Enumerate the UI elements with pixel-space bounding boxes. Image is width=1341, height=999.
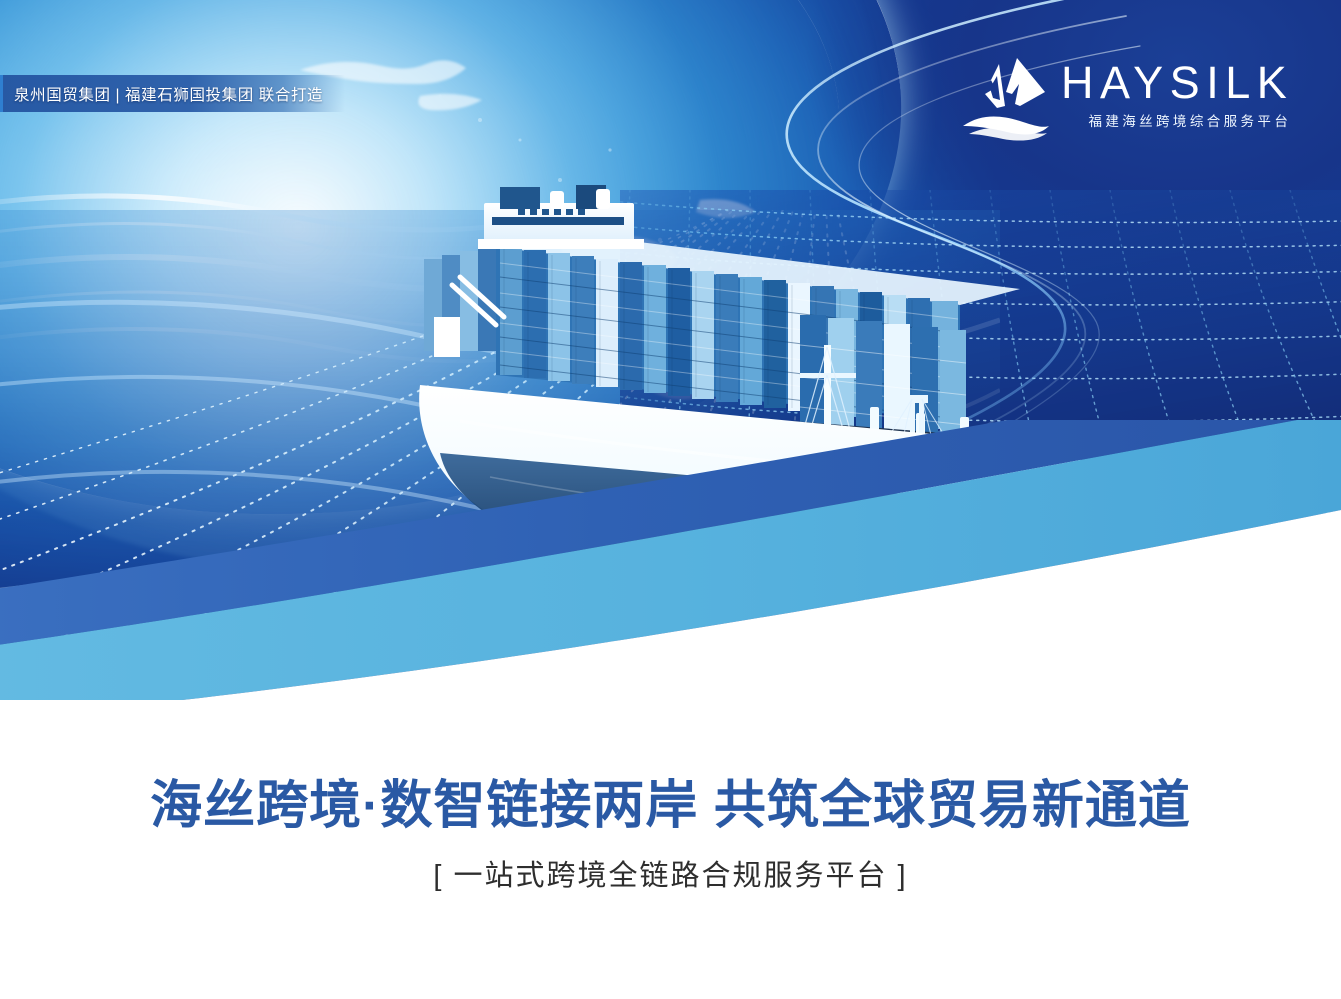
headline-main: 海丝跨境·数智链接两岸 共筑全球贸易新通道: [0, 775, 1341, 837]
headline-block: 海丝跨境·数智链接两岸 共筑全球贸易新通道 [ 一站式跨境全链路合规服务平台 ]: [0, 775, 1341, 895]
headline-sub: [ 一站式跨境全链路合规服务平台 ]: [0, 857, 1341, 895]
sailboat-wave-logo-icon: [957, 54, 1053, 142]
logo-text-block: HAYSILK 福建海丝跨境综合服务平台: [1061, 52, 1293, 130]
promo-poster: 泉州国贸集团 | 福建石狮国投集团 联合打造 HAYSILK 福建海丝跨境综合服…: [0, 0, 1341, 999]
partner-label: 泉州国贸集团 | 福建石狮国投集团 联合打造: [3, 83, 323, 105]
logo-subtitle: 福建海丝跨境综合服务平台: [1061, 110, 1293, 130]
decorative-curve-bands: [0, 420, 1341, 700]
partner-ribbon: 泉州国贸集团 | 福建石狮国投集团 联合打造: [0, 75, 345, 112]
logo-wordmark: HAYSILK: [1061, 58, 1293, 108]
haysilk-logo[interactable]: HAYSILK 福建海丝跨境综合服务平台: [957, 52, 1293, 142]
